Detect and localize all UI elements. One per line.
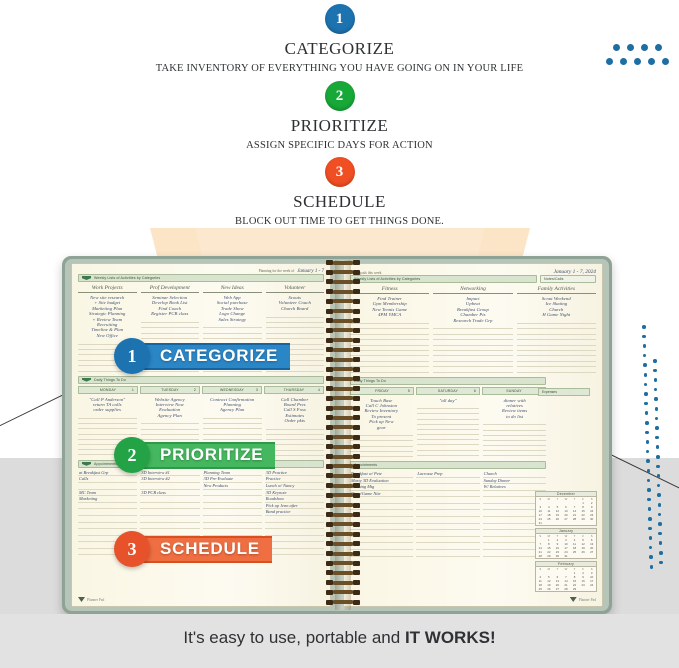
side-dot bbox=[649, 536, 653, 540]
appointment-entry: New Products bbox=[204, 483, 229, 488]
side-dot bbox=[649, 546, 653, 550]
calendar-day bbox=[553, 521, 562, 525]
calendar-day bbox=[562, 521, 571, 525]
day-name: SATURDAY bbox=[438, 389, 458, 393]
appointment-slot: Lacrosse Prep bbox=[416, 471, 479, 478]
category-items: New site research+ Site budgetMarketing … bbox=[78, 295, 137, 338]
side-dot bbox=[646, 440, 650, 444]
appointment-column: Lacrosse Prep bbox=[416, 471, 479, 557]
appointment-column: 3D PracticePracticeLunch w/ Nancy3D Keyn… bbox=[265, 470, 324, 556]
section-header-daily-right: Daily Things To Do bbox=[350, 377, 546, 385]
calendar-week: 31 bbox=[536, 521, 596, 525]
left-page-footer: Planner Pad bbox=[78, 597, 324, 602]
notes-calls-box: Notes/Calls bbox=[540, 275, 596, 283]
triangle-icon bbox=[78, 597, 85, 602]
spiral-coil bbox=[326, 270, 360, 275]
spiral-coil bbox=[326, 435, 360, 440]
appointment-slot bbox=[265, 516, 324, 523]
spiral-coil bbox=[326, 512, 360, 517]
appointment-slot bbox=[203, 490, 262, 497]
spiral-coil bbox=[326, 503, 360, 508]
side-dot bbox=[654, 397, 658, 401]
spiral-coil bbox=[326, 580, 360, 585]
step-title-1: CATEGORIZE bbox=[0, 39, 679, 59]
appointment-slot bbox=[203, 509, 262, 516]
week-range: January 1 - 7 bbox=[297, 269, 324, 274]
appointment-slot bbox=[265, 529, 324, 536]
ruled-lines bbox=[433, 324, 512, 373]
calendar-day bbox=[587, 554, 596, 558]
side-dot bbox=[644, 373, 648, 377]
appointment-slot bbox=[140, 496, 199, 503]
category-items: ScoutsVolunteer CoachChurch Board bbox=[266, 295, 325, 311]
day-header: TUESDAY2 bbox=[140, 386, 200, 394]
callout-circle-3: 3 bbox=[114, 531, 150, 567]
side-dot bbox=[645, 431, 649, 435]
spiral-coil bbox=[326, 309, 360, 314]
appointment-entry: Lunch w/ Nancy bbox=[266, 483, 295, 488]
callout-schedule: 3 SCHEDULE bbox=[114, 531, 272, 567]
appointment-slot: 3D PCB class bbox=[140, 490, 199, 497]
side-dot bbox=[655, 436, 659, 440]
category-item: H Game Night bbox=[517, 312, 596, 317]
appointment-slot bbox=[416, 550, 479, 557]
appointment-slot bbox=[265, 542, 324, 549]
category-header: Family Activities bbox=[517, 286, 596, 294]
appointment-slot bbox=[265, 536, 324, 543]
step-badge-2: 2 bbox=[325, 81, 355, 111]
section-header-categories-right: Weekly Lists of Activities by Categories bbox=[350, 275, 537, 283]
appointment-entry: Calls bbox=[79, 476, 88, 481]
day-name: SUNDAY bbox=[506, 389, 522, 393]
calendar-day: 26 bbox=[545, 587, 554, 591]
side-dot bbox=[655, 407, 659, 411]
callout-categorize: 1 CATEGORIZE bbox=[114, 338, 290, 374]
right-page-footer: Planner Pad bbox=[350, 597, 596, 602]
right-day-columns: Touch BaseCall C JohnstonReview Inventor… bbox=[350, 398, 546, 457]
calendar-day bbox=[579, 587, 588, 591]
calendar-day: 27 bbox=[553, 587, 562, 591]
side-dot bbox=[650, 565, 654, 569]
day-item: Agency Plan bbox=[203, 407, 262, 412]
ruled-lines bbox=[483, 420, 546, 456]
spiral-coil bbox=[326, 357, 360, 362]
appointment-slot bbox=[78, 516, 137, 523]
calendar-day bbox=[570, 521, 579, 525]
appointment-entry: Pick up Jenn after bbox=[266, 503, 298, 508]
appointment-slot: Marketing bbox=[78, 496, 137, 503]
calendar-day: 31 bbox=[536, 521, 545, 525]
spiral-coil bbox=[326, 386, 360, 391]
spiral-coil bbox=[326, 347, 360, 352]
category-item: Register PCB class bbox=[141, 311, 200, 316]
spiral-coil bbox=[326, 425, 360, 430]
day-name: TUESDAY bbox=[161, 388, 179, 392]
appointment-slot: 3D Pre-Evaluate bbox=[203, 476, 262, 483]
appointment-slot bbox=[203, 503, 262, 510]
appointment-slot bbox=[416, 517, 479, 524]
step-subtitle-2: ASSIGN SPECIFIC DAYS FOR ACTION bbox=[0, 140, 679, 151]
calendar-day: 28 bbox=[562, 587, 571, 591]
appointment-entry: 3D Pre-Evaluate bbox=[204, 476, 234, 481]
appointment-slot bbox=[416, 484, 479, 491]
day-item: "all day" bbox=[417, 398, 480, 403]
spiral-coil bbox=[326, 483, 360, 488]
appointment-entry: Roadshow bbox=[266, 496, 284, 501]
spiral-coil bbox=[326, 590, 360, 595]
appointment-entry: 3D Keynote bbox=[266, 490, 287, 495]
side-dot bbox=[659, 541, 663, 545]
side-dot bbox=[653, 369, 657, 373]
calendar-day bbox=[570, 554, 579, 558]
spiral-coil bbox=[326, 522, 360, 527]
step-subtitle-3: BLOCK OUT TIME TO GET THINGS DONE. bbox=[0, 216, 679, 227]
day-header: MONDAY1 bbox=[78, 386, 138, 394]
callout-circle-2: 2 bbox=[114, 437, 150, 473]
spiral-coil bbox=[326, 328, 360, 333]
spiral-coil bbox=[326, 367, 360, 372]
side-dot bbox=[644, 392, 648, 396]
planner-pad-logo-left: Planner Pad bbox=[78, 597, 104, 602]
appointment-slot bbox=[78, 509, 137, 516]
appointment-slot bbox=[140, 483, 199, 490]
calendar-day bbox=[579, 554, 588, 558]
logo-text: Planner Pad bbox=[87, 598, 104, 602]
spiral-coil bbox=[326, 376, 360, 381]
category-header: Networking bbox=[433, 286, 512, 294]
triangle-icon bbox=[570, 597, 577, 602]
appointment-entry: at Breakfast Grp bbox=[79, 470, 108, 475]
appointment-slot bbox=[203, 516, 262, 523]
side-dot bbox=[649, 555, 653, 559]
calendar-day: 30 bbox=[553, 554, 562, 558]
day-number: 6 bbox=[474, 389, 476, 393]
day-item: order supplies bbox=[78, 407, 137, 412]
appointment-slot: Roadshow bbox=[265, 496, 324, 503]
mini-calendar-grid: SMTWTFS123456789101112131415161718192021… bbox=[536, 497, 596, 525]
side-dot bbox=[647, 488, 651, 492]
side-dot bbox=[648, 517, 652, 521]
step-title-3: SCHEDULE bbox=[0, 192, 679, 212]
side-dot bbox=[656, 445, 660, 449]
appointment-slot: New Products bbox=[203, 483, 262, 490]
callout-label-3: SCHEDULE bbox=[142, 536, 272, 563]
appointment-slot: 3D Interview #2 bbox=[140, 476, 199, 483]
appointment-slot: Calls bbox=[78, 476, 137, 483]
step-subtitle-1: TAKE INVENTORY OF EVERYTHING YOU HAVE GO… bbox=[0, 63, 679, 74]
side-dot bbox=[645, 421, 649, 425]
appointment-entry: Marketing bbox=[79, 496, 97, 501]
appointment-slot bbox=[416, 510, 479, 517]
appointment-entry: W/ Relatives bbox=[484, 484, 506, 489]
side-dot bbox=[646, 450, 650, 454]
appointment-slot bbox=[140, 523, 199, 530]
side-dot bbox=[656, 465, 660, 469]
side-dot bbox=[657, 493, 661, 497]
day-item: to do list bbox=[483, 414, 546, 419]
right-page-sheet: major goals this week January 1 - 7, 202… bbox=[344, 264, 602, 606]
category-header: Prof Development bbox=[141, 285, 200, 293]
appointment-slot bbox=[78, 523, 137, 530]
category-item: Research Trade Grp bbox=[433, 318, 512, 323]
side-dot bbox=[658, 513, 662, 517]
calendar-day: 28 bbox=[536, 554, 545, 558]
category-header: Work Projects bbox=[78, 285, 137, 293]
flag-icon bbox=[82, 378, 91, 382]
appointment-slot: MC Team bbox=[78, 490, 137, 497]
mini-calendar: DecemberSMTWTFS1234567891011121314151617… bbox=[535, 491, 597, 526]
appointment-entry: Lacrosse Prep bbox=[417, 471, 442, 476]
step-schedule: 3 SCHEDULE BLOCK OUT TIME TO GET THINGS … bbox=[0, 157, 679, 227]
ruled-lines bbox=[417, 404, 480, 456]
category-header: Volunteer bbox=[266, 285, 325, 293]
side-dot bbox=[658, 522, 662, 526]
callout-label-2: PRIORITIZE bbox=[142, 442, 275, 469]
spiral-coil bbox=[326, 444, 360, 449]
appointment-slot bbox=[203, 496, 262, 503]
side-dot bbox=[658, 532, 662, 536]
side-dot bbox=[646, 459, 650, 463]
day-number: 1 bbox=[132, 388, 134, 392]
appointment-slot: 3D Keynote bbox=[265, 490, 324, 497]
side-dot bbox=[653, 359, 657, 363]
planning-label: Planning for the week of bbox=[259, 269, 295, 274]
calendar-day bbox=[587, 587, 596, 591]
spiral-coil bbox=[326, 396, 360, 401]
day-name: WEDNESDAY bbox=[220, 388, 244, 392]
side-dot bbox=[647, 479, 651, 483]
calendar-day: 29 bbox=[545, 554, 554, 558]
appointment-slot: W/ Relatives bbox=[483, 484, 546, 491]
appointment-entry: MC Team bbox=[79, 490, 96, 495]
day-header: WEDNESDAY3 bbox=[202, 386, 262, 394]
appointment-slot bbox=[140, 509, 199, 516]
side-dot bbox=[647, 498, 651, 502]
appointment-entry: Church bbox=[484, 471, 497, 476]
side-dot bbox=[658, 503, 662, 507]
appointment-slot: Pick up Jenn after bbox=[265, 503, 324, 510]
category-items: ImpactUpbeatBreakfast GroupChamber PtsRe… bbox=[433, 296, 512, 323]
side-dot bbox=[657, 474, 661, 478]
section-label: Daily Things To Do bbox=[94, 378, 126, 382]
side-dot bbox=[642, 335, 646, 339]
expenses-box: Expenses bbox=[538, 388, 590, 396]
appointment-slot: Church bbox=[483, 471, 546, 478]
mini-calendar: FebruarySMTWTFS1234567891011121314151617… bbox=[535, 561, 597, 592]
side-dot bbox=[656, 455, 660, 459]
calendar-day: 25 bbox=[536, 587, 545, 591]
appointment-slot bbox=[78, 483, 137, 490]
appointment-slot bbox=[265, 523, 324, 530]
callout-label-1: CATEGORIZE bbox=[142, 343, 290, 370]
spiral-coil bbox=[326, 260, 360, 265]
mini-calendar-grid: SMTWTFS123456789101112131415161718192021… bbox=[536, 567, 596, 591]
side-dot bbox=[654, 378, 658, 382]
appointment-slot bbox=[78, 503, 137, 510]
day-column: "all day" bbox=[417, 398, 480, 457]
side-dot bbox=[643, 363, 647, 367]
side-dot bbox=[657, 484, 661, 488]
logo-text: Planner Pad bbox=[579, 598, 596, 602]
left-day-headers: MONDAY1TUESDAY2WEDNESDAY3THURSDAY4 bbox=[78, 386, 324, 394]
appointment-slot bbox=[416, 497, 479, 504]
side-dot bbox=[654, 388, 658, 392]
side-dot bbox=[644, 402, 648, 406]
appointment-slot bbox=[416, 530, 479, 537]
calendar-week: 2526272829 bbox=[536, 587, 596, 591]
spiral-coil bbox=[326, 406, 360, 411]
step-badge-1: 1 bbox=[325, 4, 355, 34]
day-name: MONDAY bbox=[100, 388, 116, 392]
side-dot bbox=[655, 426, 659, 430]
appointment-slot: Sunday Dinner bbox=[483, 478, 546, 485]
right-day-headers: FRIDAY5SATURDAY6SUNDAY7 bbox=[350, 387, 546, 395]
spiral-coil bbox=[326, 570, 360, 575]
right-category-columns: FitnessFind TrainerGym MembershipNew Ten… bbox=[350, 286, 596, 373]
category-item: Sales Strategy bbox=[203, 317, 262, 322]
appointment-slot bbox=[416, 491, 479, 498]
side-dot bbox=[659, 551, 663, 555]
day-number: 3 bbox=[256, 388, 258, 392]
section-header-daily-left: Daily Things To Do bbox=[78, 376, 324, 384]
section-label: Weekly Lists of Activities by Categories bbox=[94, 276, 160, 280]
steps-section: 1 CATEGORIZE TAKE INVENTORY OF EVERYTHIN… bbox=[0, 0, 679, 232]
side-dot bbox=[643, 354, 647, 358]
appointment-slot bbox=[416, 504, 479, 511]
appointment-slot bbox=[416, 537, 479, 544]
side-dot bbox=[642, 325, 646, 329]
side-dot bbox=[659, 561, 663, 565]
flag-icon bbox=[82, 276, 91, 280]
spiral-coil bbox=[326, 561, 360, 566]
step-title-2: PRIORITIZE bbox=[0, 116, 679, 136]
flag-icon bbox=[82, 462, 91, 466]
appointment-slot bbox=[140, 516, 199, 523]
expenses-label: Expenses bbox=[542, 390, 557, 394]
caption-lead: It's easy to use, portable and bbox=[183, 628, 405, 647]
mini-calendar: JanuarySMTWTFS12345678910111213141516171… bbox=[535, 528, 597, 559]
calendar-day bbox=[587, 521, 596, 525]
callout-prioritize: 2 PRIORITIZE bbox=[114, 437, 275, 473]
day-column: dinner withrelativesReview itemsto do li… bbox=[483, 398, 546, 457]
category-item: Church Board bbox=[266, 306, 325, 311]
day-item: Agency Plan bbox=[141, 413, 200, 418]
side-dot bbox=[648, 507, 652, 511]
mini-calendar-grid: SMTWTFS123456789101112131415161718192021… bbox=[536, 534, 596, 558]
spiral-coil bbox=[326, 532, 360, 537]
day-header: THURSDAY4 bbox=[264, 386, 324, 394]
notes-label: Notes/Calls bbox=[544, 277, 563, 281]
day-number: 2 bbox=[194, 388, 196, 392]
appointment-slot bbox=[203, 523, 262, 530]
appointment-slot bbox=[416, 524, 479, 531]
planner-pad-logo-right: Planner Pad bbox=[570, 597, 596, 602]
caption-emphasis: IT WORKS! bbox=[405, 628, 496, 647]
day-header: SUNDAY7 bbox=[482, 387, 546, 395]
step-categorize: 1 CATEGORIZE TAKE INVENTORY OF EVERYTHIN… bbox=[0, 4, 679, 74]
ruled-lines bbox=[517, 319, 596, 373]
appointment-entry: 3D PCB class bbox=[141, 490, 166, 495]
day-item: Order pkts bbox=[266, 418, 325, 423]
spiral-coil bbox=[326, 415, 360, 420]
step-prioritize: 2 PRIORITIZE ASSIGN SPECIFIC DAYS FOR AC… bbox=[0, 81, 679, 151]
callout-circle-1: 1 bbox=[114, 338, 150, 374]
spiral-coil bbox=[326, 289, 360, 294]
category-header: New Ideas bbox=[203, 285, 262, 293]
appointment-slot: Practice bbox=[265, 476, 324, 483]
day-number: 4 bbox=[318, 388, 320, 392]
spiral-coil bbox=[326, 600, 360, 605]
category-column: Family ActivitiesScout WeekendIce Skatin… bbox=[517, 286, 596, 373]
right-appointment-columns: Breakfast w/ PeteMarty 3D EvaluationTrai… bbox=[350, 471, 546, 557]
caption-text: It's easy to use, portable and IT WORKS! bbox=[0, 628, 679, 648]
calendar-day: 29 bbox=[570, 587, 579, 591]
appointment-entry: Band practice bbox=[266, 509, 291, 514]
appointment-slot bbox=[140, 503, 199, 510]
calendar-day: 31 bbox=[562, 554, 571, 558]
spiral-coil bbox=[326, 279, 360, 284]
appointment-slot: Lunch w/ Nancy bbox=[265, 483, 324, 490]
spiral-coil bbox=[326, 318, 360, 323]
appointment-slot bbox=[265, 549, 324, 556]
appointment-entry: 3D Interview #2 bbox=[141, 476, 170, 481]
planner-spiral-binding bbox=[322, 256, 364, 614]
day-name: THURSDAY bbox=[284, 388, 305, 392]
mini-calendars: DecemberSMTWTFS1234567891011121314151617… bbox=[535, 491, 597, 594]
spiral-coil bbox=[326, 473, 360, 478]
calendar-day bbox=[545, 521, 554, 525]
appointment-slot: Band practice bbox=[265, 509, 324, 516]
spiral-coil bbox=[326, 299, 360, 304]
spiral-coil bbox=[326, 454, 360, 459]
side-dot bbox=[643, 344, 647, 348]
spiral-coil bbox=[326, 338, 360, 343]
category-column: NetworkingImpactUpbeatBreakfast GroupCha… bbox=[433, 286, 512, 373]
spiral-coil bbox=[326, 541, 360, 546]
appointment-entry: Practice bbox=[266, 476, 281, 481]
day-header: SATURDAY6 bbox=[416, 387, 480, 395]
section-header-appointments-right: Appointments bbox=[350, 461, 546, 469]
spiral-coil bbox=[326, 493, 360, 498]
appointment-slot bbox=[416, 478, 479, 485]
category-items: Scout WeekendIce SkatingChurchH Game Nig… bbox=[517, 296, 596, 318]
spiral-coil bbox=[326, 551, 360, 556]
side-dot bbox=[647, 469, 651, 473]
day-number: 5 bbox=[408, 389, 410, 393]
section-header-categories-left: Weekly Lists of Activities by Categories bbox=[78, 274, 324, 282]
appointment-slot bbox=[416, 543, 479, 550]
category-items: Seminar SelectionDevelop Book ListFind C… bbox=[141, 295, 200, 317]
step-badge-3: 3 bbox=[325, 157, 355, 187]
side-dot bbox=[648, 527, 652, 531]
decorative-side-dots bbox=[640, 325, 676, 595]
appointment-entry: Sunday Dinner bbox=[484, 478, 510, 483]
side-dot bbox=[645, 411, 649, 415]
side-dot bbox=[655, 417, 659, 421]
side-dot bbox=[644, 383, 648, 387]
calendar-week: 28293031 bbox=[536, 554, 596, 558]
category-items: Web AppSocial purchaseTrade ShowLogo Cha… bbox=[203, 295, 262, 322]
spiral-coil bbox=[326, 464, 360, 469]
day-name: FRIDAY bbox=[375, 389, 389, 393]
calendar-day bbox=[579, 521, 588, 525]
planner-right-page: major goals this week January 1 - 7, 202… bbox=[343, 263, 603, 607]
